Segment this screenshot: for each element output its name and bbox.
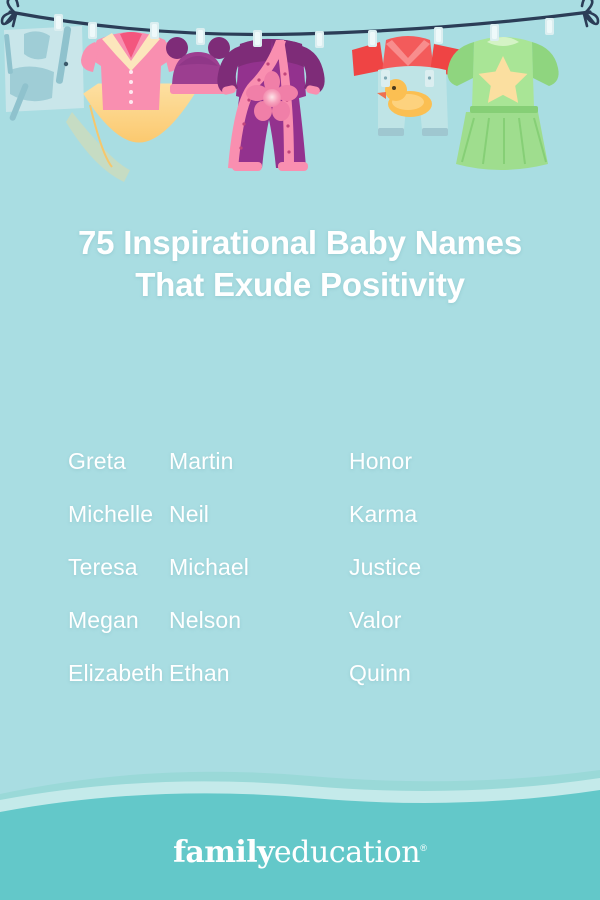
list-item: Martin: [169, 444, 349, 497]
name-column-3: Honor Karma Justice Valor Quinn: [349, 444, 600, 714]
list-item: Megan: [68, 603, 169, 656]
list-item: Karma: [349, 497, 600, 550]
list-item: Ethan: [169, 656, 349, 709]
name-column-2: Martin Neil Michael Nelson Ethan: [169, 444, 349, 714]
list-item: Neil: [169, 497, 349, 550]
hero-illustration: [0, 0, 600, 200]
list-item: Michelle: [68, 497, 169, 550]
list-item: Elizabeth: [68, 656, 169, 709]
list-item: Valor: [349, 603, 600, 656]
list-item: Nelson: [169, 603, 349, 656]
list-item: Greta: [68, 444, 169, 497]
list-item: Quinn: [349, 656, 600, 709]
list-item: Justice: [349, 550, 600, 603]
page-title: 75 Inspirational Baby Names That Exude P…: [60, 222, 540, 306]
baby-bib-and-socks-icon: [4, 26, 84, 122]
baby-names-list: Greta Michelle Teresa Megan Elizabeth Ma…: [0, 444, 600, 714]
list-item: Michael: [169, 550, 349, 603]
list-item: Honor: [349, 444, 600, 497]
pinterest-pin: 75 Inspirational Baby Names That Exude P…: [0, 0, 600, 900]
list-item: Teresa: [68, 550, 169, 603]
name-column-1: Greta Michelle Teresa Megan Elizabeth: [0, 444, 169, 714]
footer-wave-divider: [0, 760, 600, 900]
